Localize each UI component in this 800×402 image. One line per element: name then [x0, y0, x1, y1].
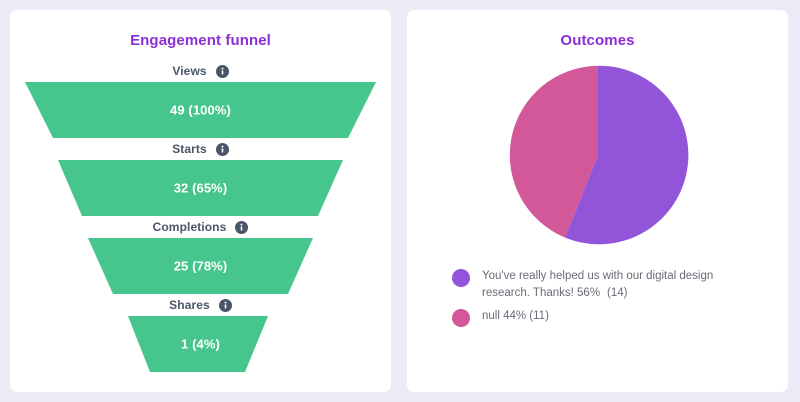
legend-label-text: You've really helped us with our digital…	[482, 270, 713, 299]
info-icon[interactable]	[219, 299, 232, 312]
legend-label: null 44% (11)	[482, 308, 549, 325]
legend-count: (14)	[607, 287, 627, 299]
funnel-stage-completions: Completions 25 (78%)	[10, 216, 391, 294]
stage-header: Completions	[10, 216, 391, 238]
funnel-bar[interactable]: 49 (100%)	[10, 82, 391, 138]
funnel-bar[interactable]: 1 (4%)	[10, 316, 391, 372]
pie-legend: You've really helped us with our digital…	[407, 268, 788, 327]
stage-label: Completions	[153, 220, 227, 234]
info-icon[interactable]	[235, 221, 248, 234]
legend-item[interactable]: You've really helped us with our digital…	[452, 268, 768, 302]
legend-label: You've really helped us with our digital…	[482, 268, 760, 302]
funnel-bar[interactable]: 25 (78%)	[10, 238, 391, 294]
funnel-chart: Views 49 (100%)	[10, 60, 391, 372]
legend-color-swatch	[452, 269, 470, 287]
stage-label: Shares	[169, 298, 210, 312]
page-title: Engagement funnel	[10, 10, 391, 48]
legend-color-swatch	[452, 309, 470, 327]
stage-header: Shares	[10, 294, 391, 316]
legend-item[interactable]: null 44% (11)	[452, 308, 768, 327]
stage-label: Starts	[172, 142, 207, 156]
stage-header: Starts	[10, 138, 391, 160]
funnel-stage-starts: Starts 32 (65%)	[10, 138, 391, 216]
pie-chart	[407, 62, 788, 248]
legend-label-text: null 44% (11)	[482, 310, 549, 322]
funnel-stage-shares: Shares 1 (4%)	[10, 294, 391, 372]
page-title: Outcomes	[407, 10, 788, 48]
stage-header: Views	[10, 60, 391, 82]
funnel-bar[interactable]: 32 (65%)	[10, 160, 391, 216]
info-icon[interactable]	[216, 65, 229, 78]
stage-label: Views	[172, 64, 206, 78]
dashboard: Engagement funnel Views	[0, 0, 800, 402]
outcomes-card: Outcomes You've really helped us with ou…	[407, 10, 788, 392]
funnel-stage-views: Views 49 (100%)	[10, 60, 391, 138]
info-icon[interactable]	[216, 143, 229, 156]
engagement-funnel-card: Engagement funnel Views	[10, 10, 391, 392]
